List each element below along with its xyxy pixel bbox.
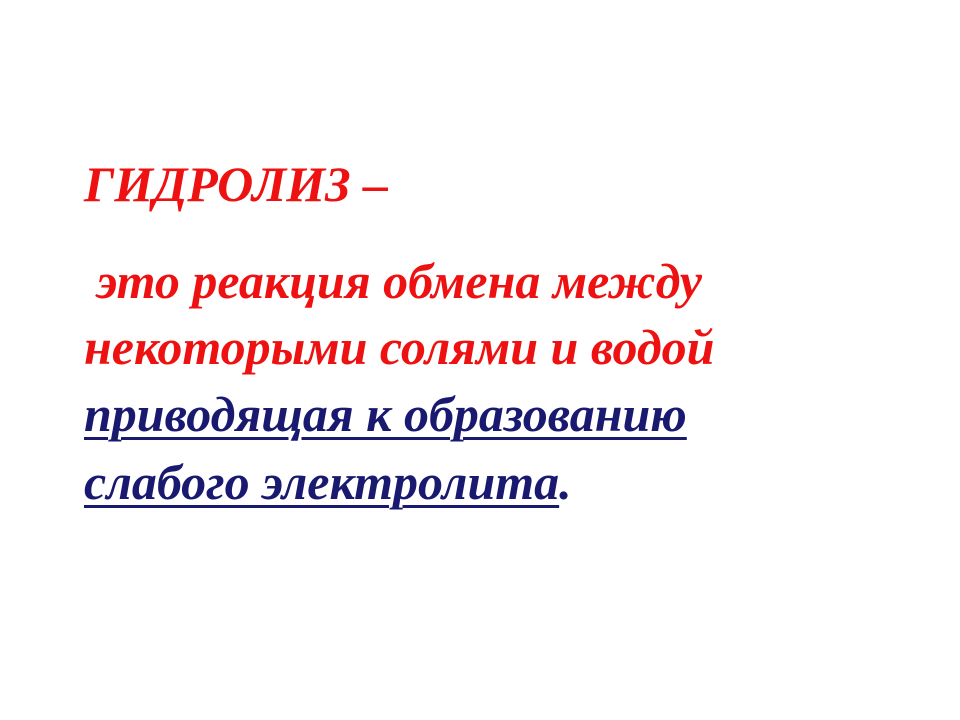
slide-canvas: ГИДРОЛИЗ – это реакция обмена между неко…: [0, 0, 960, 720]
definition-sentence-period: .: [559, 454, 572, 510]
definition-body-line-1: это реакция обмена между: [84, 248, 884, 314]
definition-body-line-2: некоторыми солями и водой: [84, 314, 884, 380]
definition-term-heading: ГИДРОЛИЗ –: [84, 152, 884, 216]
definition-emphasis-line-2: слабого электролита.: [84, 448, 884, 516]
definition-text-block: ГИДРОЛИЗ – это реакция обмена между неко…: [84, 152, 884, 516]
definition-emphasis-line-1: приводящая к образованию: [84, 380, 884, 448]
definition-emphasis-underlined-2: слабого электролита: [84, 454, 559, 510]
definition-emphasis-underlined-1: приводящая к образованию: [84, 386, 687, 442]
